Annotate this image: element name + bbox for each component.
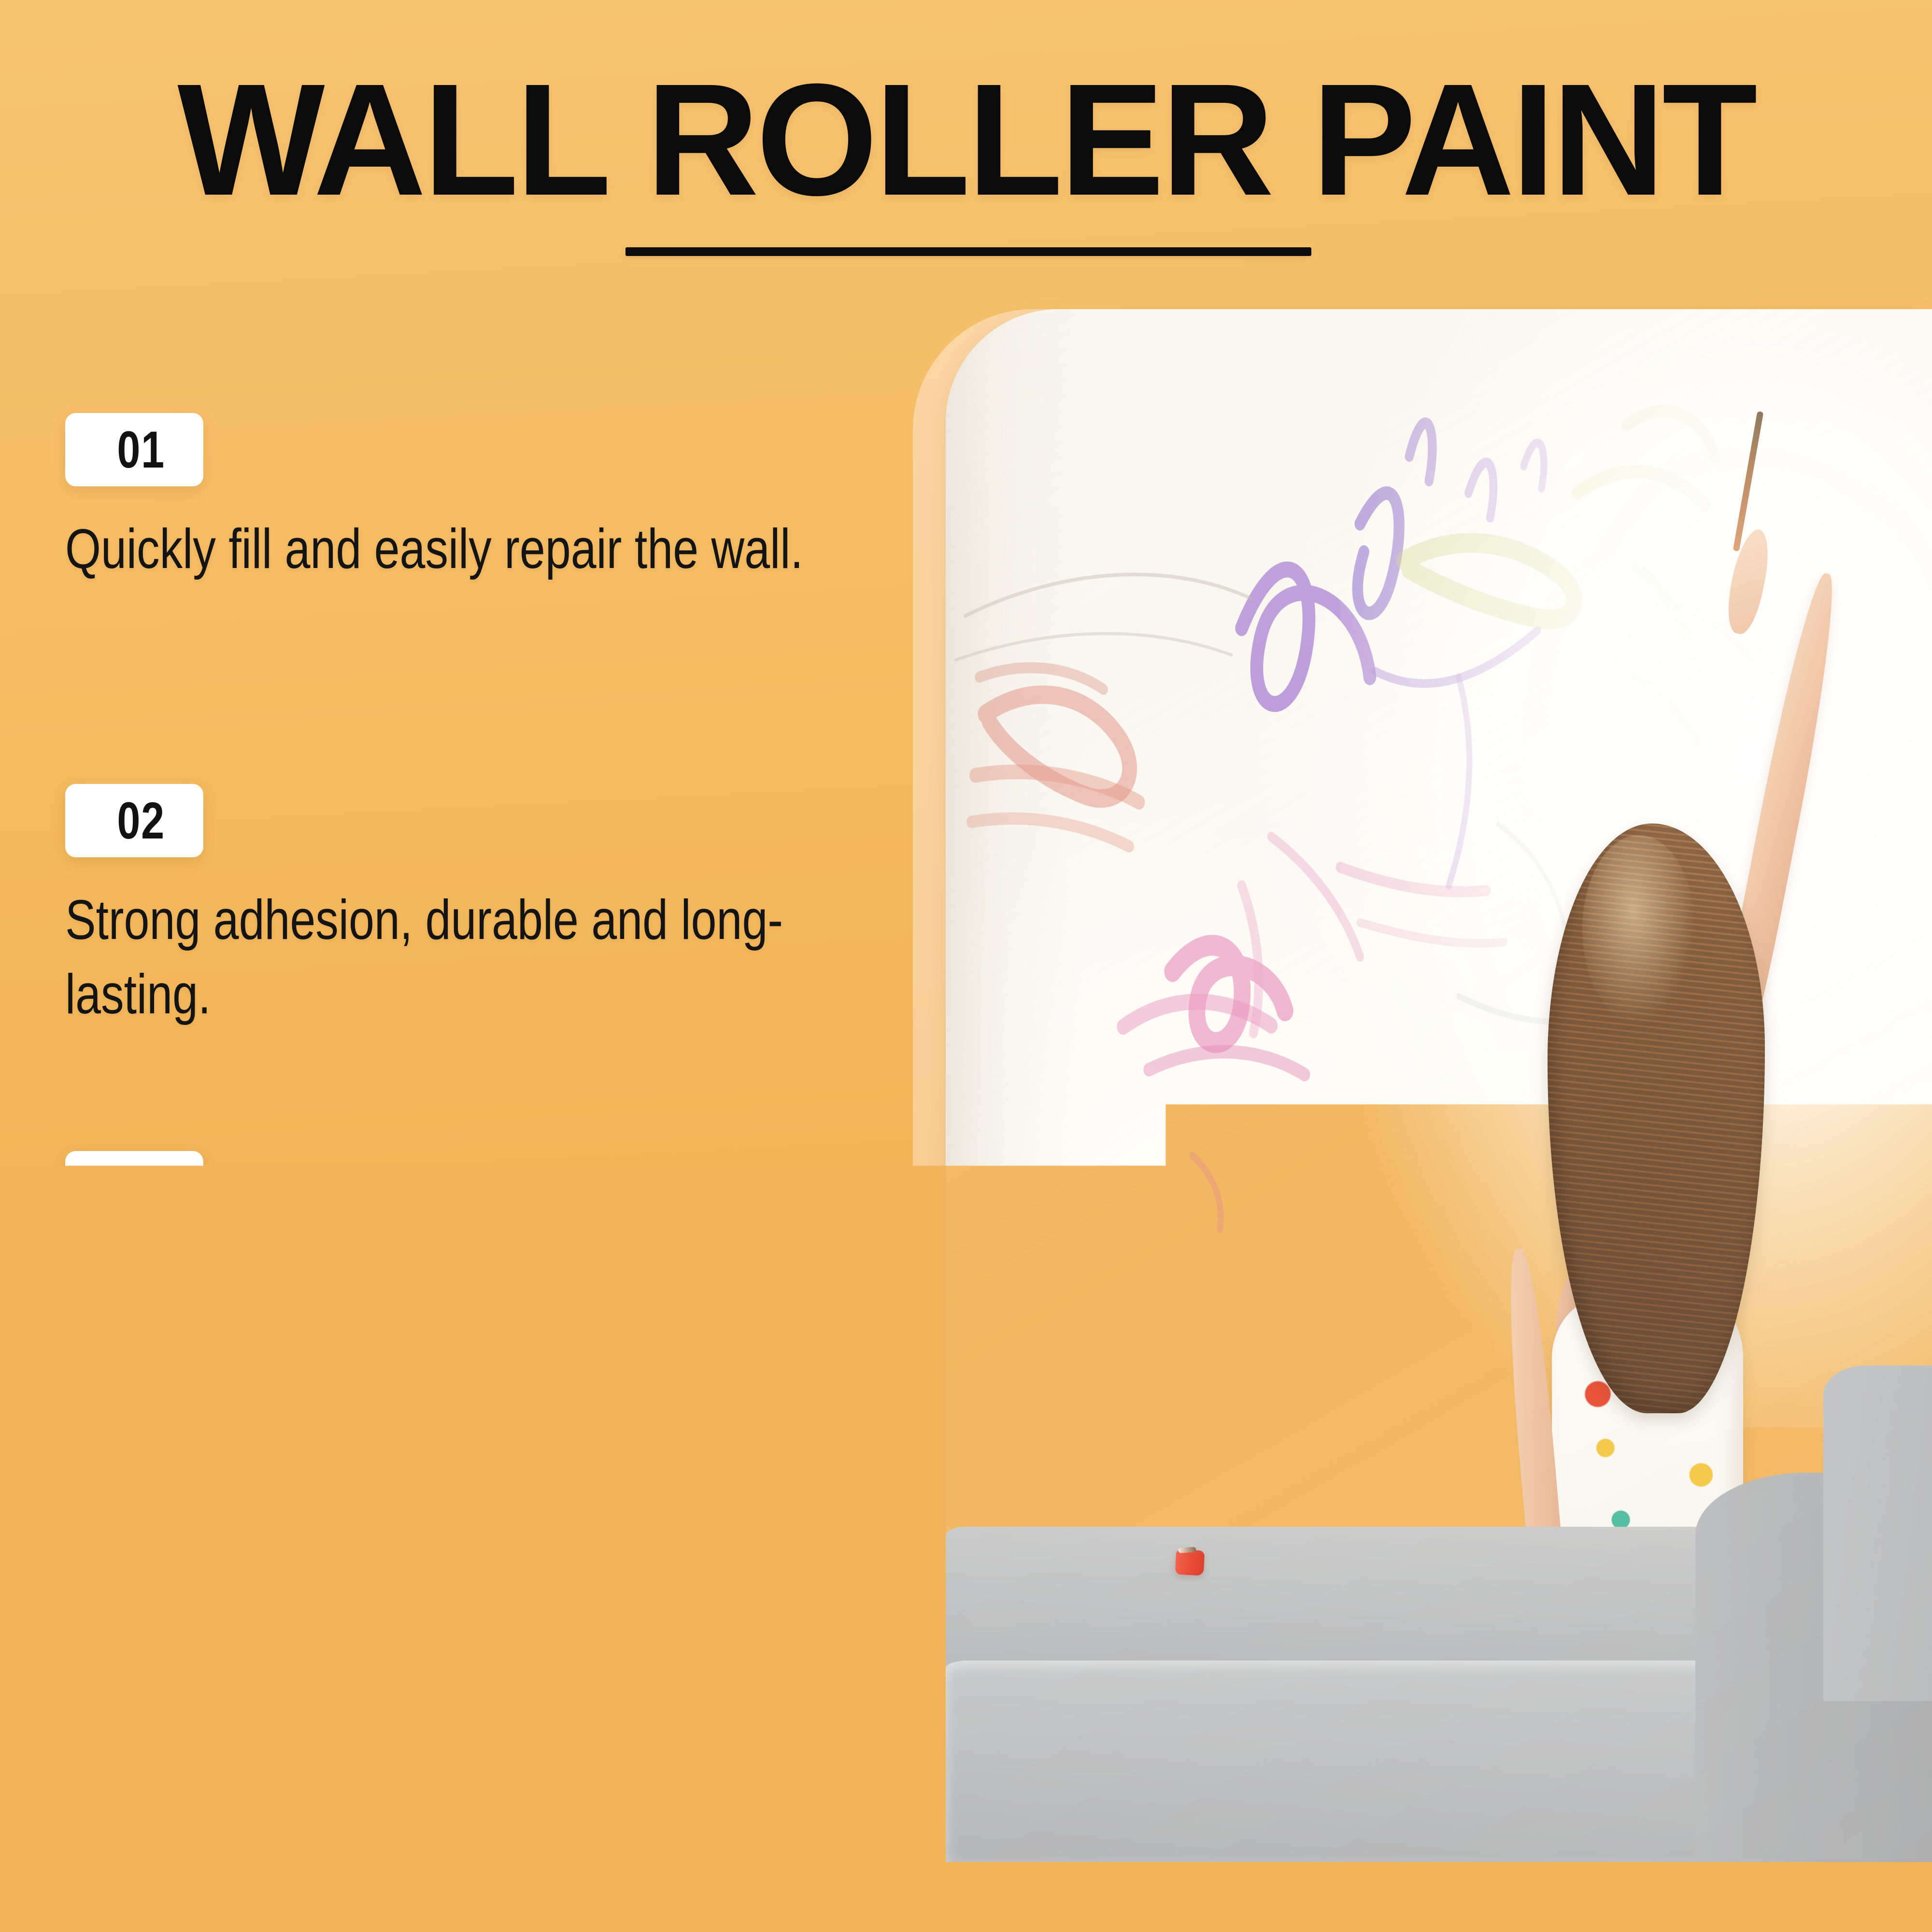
poster-canvas: WALL ROLLER PAINT 01 Quickly fill and ea… bbox=[0, 0, 1932, 1932]
hair-highlight bbox=[1582, 835, 1695, 1024]
badge-number: 01 bbox=[117, 424, 165, 476]
sofa-arm-upper bbox=[1823, 1365, 1932, 1701]
product-photo bbox=[946, 309, 1932, 1862]
status-badge: 04 bbox=[65, 1518, 203, 1591]
list-item: 01 Quickly fill and easily repair the wa… bbox=[65, 413, 886, 586]
red-crayon-stub bbox=[1175, 1549, 1205, 1576]
status-badge: 01 bbox=[65, 413, 203, 486]
badge-number: 03 bbox=[117, 1162, 165, 1214]
list-item: 03 Easy to apply and easy to use. bbox=[65, 1151, 886, 1324]
list-item: 02 Strong adhesion, durable and long-las… bbox=[65, 784, 886, 1032]
feature-list: 01 Quickly fill and easily repair the wa… bbox=[0, 0, 894, 1932]
badge-number: 04 bbox=[117, 1529, 165, 1581]
feature-text: Mild formula, leaving no odor. bbox=[65, 1617, 881, 1691]
feature-text: Strong adhesion, durable and long-lastin… bbox=[65, 882, 881, 1032]
feature-text: Quickly fill and easily repair the wall. bbox=[65, 511, 881, 586]
status-badge: 03 bbox=[65, 1151, 203, 1224]
photo-scene bbox=[946, 309, 1932, 1862]
list-item: 04 Mild formula, leaving no odor. bbox=[65, 1518, 886, 1691]
feature-text: Easy to apply and easy to use. bbox=[65, 1250, 881, 1324]
badge-number: 02 bbox=[117, 795, 165, 847]
status-badge: 02 bbox=[65, 784, 203, 857]
grey-sofa bbox=[946, 1527, 1932, 1862]
